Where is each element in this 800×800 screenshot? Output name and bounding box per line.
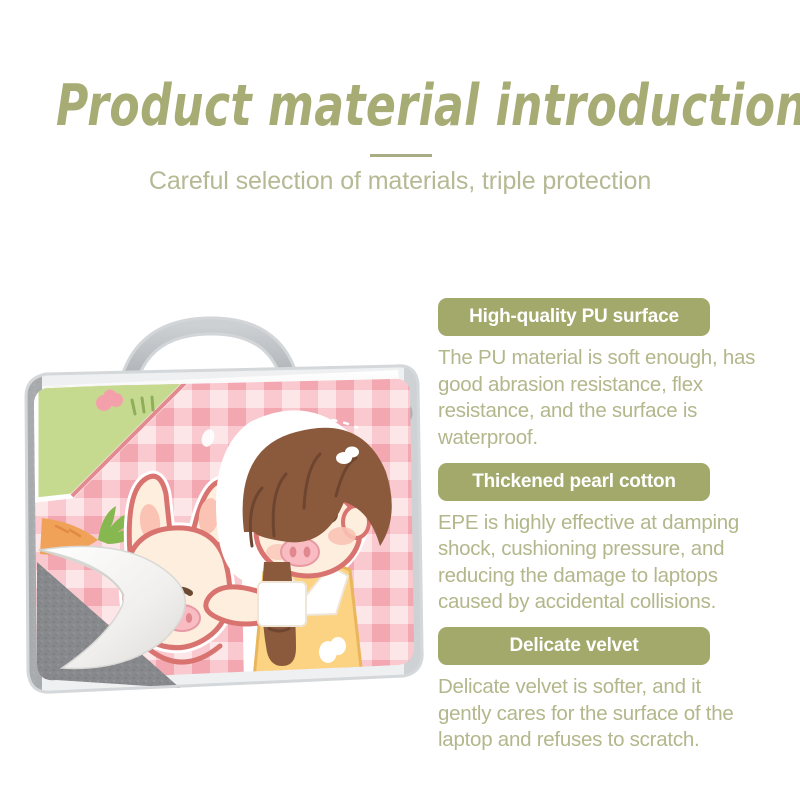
girl-arm [206, 587, 264, 624]
page-subtitle: Careful selection of materials, triple p… [0, 167, 800, 196]
feature-body-velvet: Delicate velvet is softer, and it gently… [438, 674, 758, 754]
feature-body-pu: The PU material is soft enough, has good… [438, 345, 758, 452]
feature-badge-pearl-cotton: Thickened pearl cotton [438, 463, 710, 501]
feature-block-velvet: Delicate velvet Delicate velvet is softe… [438, 627, 758, 754]
feature-list: High-quality PU surface The PU material … [438, 298, 758, 765]
girl-blush-right [328, 527, 356, 545]
title-divider [370, 154, 432, 157]
feature-block-pu: High-quality PU surface The PU material … [438, 298, 758, 452]
header: Product material introduction Careful se… [0, 0, 800, 230]
feature-body-pearl-cotton: EPE is highly effective at damping shock… [438, 510, 758, 617]
product-image [12, 300, 432, 720]
girl-snout [281, 538, 319, 566]
feature-block-pearl-cotton: Thickened pearl cotton EPE is highly eff… [438, 463, 758, 617]
girl-sleeve [258, 582, 306, 626]
feature-badge-velvet: Delicate velvet [438, 627, 710, 665]
page-title: Product material introduction [56, 78, 744, 135]
feature-badge-pu: High-quality PU surface [438, 298, 710, 336]
